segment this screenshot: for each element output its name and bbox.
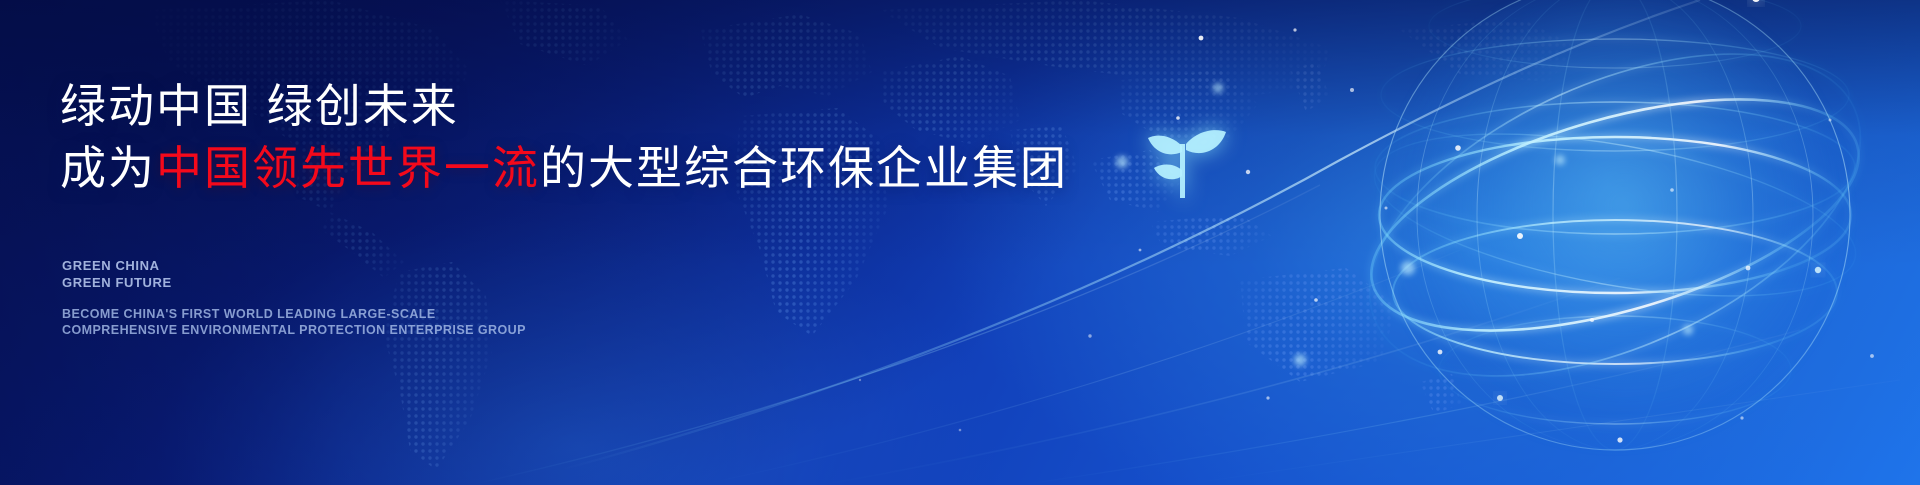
headline-line-1: 绿动中国 绿创未来	[60, 80, 459, 132]
tagline-line-2: COMPREHENSIVE ENVIRONMENTAL PROTECTION E…	[62, 323, 526, 339]
subtitle-english: GREEN CHINA GREEN FUTURE	[62, 257, 172, 291]
banner-content: 绿动中国 绿创未来 成为中国领先世界一流的大型综合环保企业集团 GREEN CH…	[60, 0, 1060, 485]
subtitle-line-2: GREEN FUTURE	[62, 274, 172, 291]
hero-banner: 绿动中国 绿创未来 成为中国领先世界一流的大型综合环保企业集团 GREEN CH…	[0, 0, 1920, 485]
headline: 绿动中国 绿创未来 成为中国领先世界一流的大型综合环保企业集团	[60, 75, 1068, 199]
headline-line-2: 成为中国领先世界一流的大型综合环保企业集团	[60, 137, 1068, 199]
headline-line-2-prefix: 成为	[60, 142, 156, 194]
subtitle-line-1: GREEN CHINA	[62, 257, 172, 274]
headline-line-2-highlight: 中国领先世界一流	[156, 142, 540, 194]
tagline-english: BECOME CHINA'S FIRST WORLD LEADING LARGE…	[62, 307, 526, 338]
tagline-line-1: BECOME CHINA'S FIRST WORLD LEADING LARGE…	[62, 307, 526, 323]
headline-line-2-suffix: 的大型综合环保企业集团	[540, 142, 1068, 194]
